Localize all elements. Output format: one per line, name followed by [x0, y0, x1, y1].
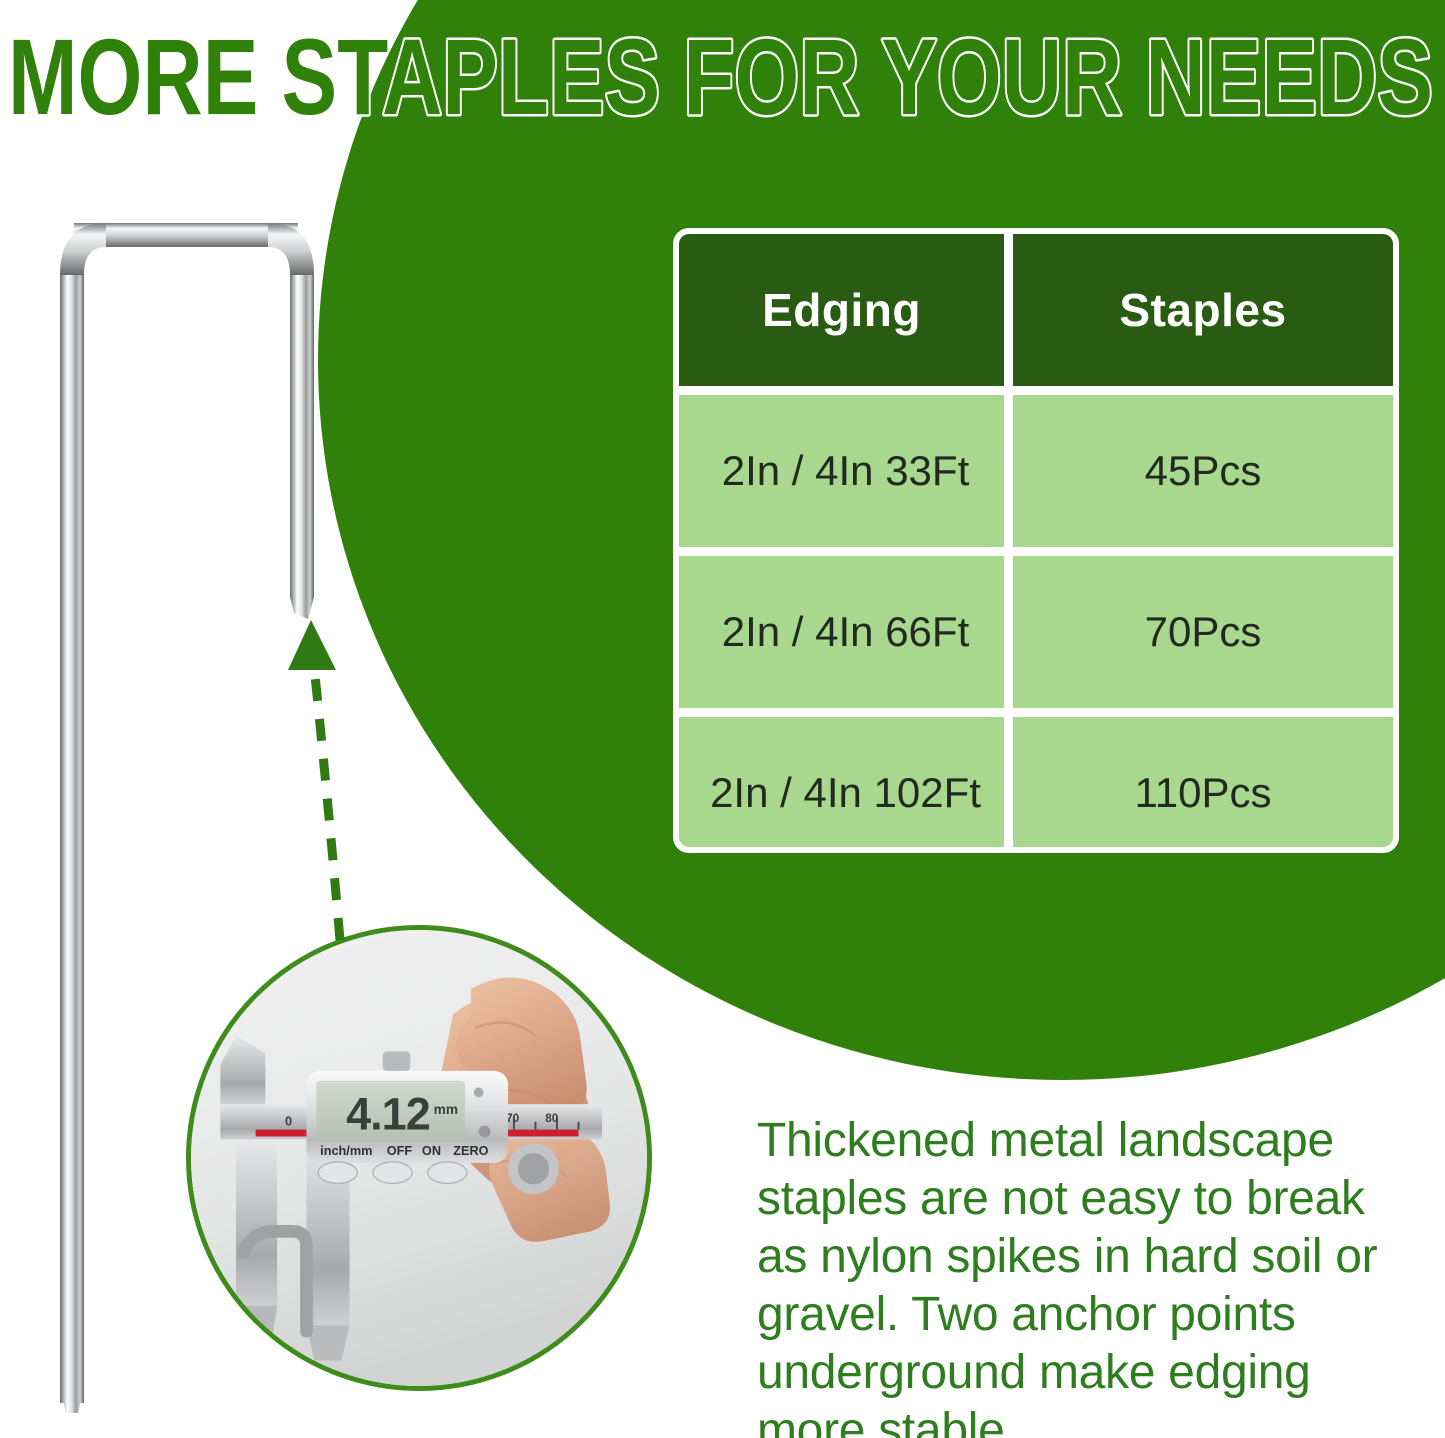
caliper-display-value: 4.12	[346, 1089, 430, 1140]
caliper-display-unit: mm	[434, 1102, 458, 1117]
scale-label-70: 70	[506, 1112, 520, 1125]
cell-edging: 2In / 4In 66Ft	[679, 556, 1004, 708]
button-label-zero: ZERO	[453, 1143, 488, 1158]
table-row: 2In / 4In 33Ft 45Pcs	[679, 395, 1393, 547]
caliper-button-zero[interactable]	[428, 1162, 467, 1184]
table-row-divider	[679, 708, 1393, 717]
table-row-divider	[679, 547, 1393, 556]
button-label-inch-mm: inch/mm	[320, 1143, 372, 1158]
dashed-line	[314, 666, 340, 940]
table-column-divider	[1004, 556, 1013, 708]
arrowhead-icon	[288, 620, 336, 670]
cell-staples: 110Pcs	[1013, 717, 1393, 853]
table-row-divider	[679, 386, 1393, 395]
table-row: 2In / 4In 102Ft 110Pcs	[679, 717, 1393, 853]
table-column-divider	[1004, 234, 1013, 386]
cell-staples: 70Pcs	[1013, 556, 1393, 708]
table-column-divider	[1004, 717, 1013, 853]
button-label-on: ON	[422, 1143, 441, 1158]
callout-arrow	[270, 600, 450, 950]
button-label-off: OFF	[387, 1143, 413, 1158]
description-text: Thickened metal landscape staples are no…	[757, 1112, 1397, 1438]
table-column-divider	[1004, 395, 1013, 547]
page-title: MORE STAPLES FOR YOUR NEEDS	[8, 26, 1440, 136]
scale-label-80: 80	[545, 1112, 559, 1125]
cell-edging: 2In / 4In 33Ft	[679, 395, 1004, 547]
column-header-edging: Edging	[679, 234, 1004, 386]
caliper-button-inch-mm[interactable]	[318, 1162, 357, 1184]
page-title-text: MORE STAPLES FOR YOUR NEEDS	[8, 16, 1433, 137]
scale-label-0: 0	[285, 1114, 292, 1129]
caliper-photo: 0 70 80 4.12 mm inch/mm OFF ON	[186, 925, 652, 1391]
cell-edging: 2In / 4In 102Ft	[679, 717, 1004, 853]
caliper-button-on-off[interactable]	[373, 1162, 412, 1184]
table-row: 2In / 4In 66Ft 70Pcs	[679, 556, 1393, 708]
product-infographic: MORE STAPLES FOR YOUR NEEDS	[0, 0, 1445, 1438]
spec-table: Edging Staples 2In / 4In 33Ft 45Pcs 2In …	[673, 228, 1399, 853]
column-header-staples: Staples	[1013, 234, 1393, 386]
table-header-row: Edging Staples	[679, 234, 1393, 386]
cell-staples: 45Pcs	[1013, 395, 1393, 547]
